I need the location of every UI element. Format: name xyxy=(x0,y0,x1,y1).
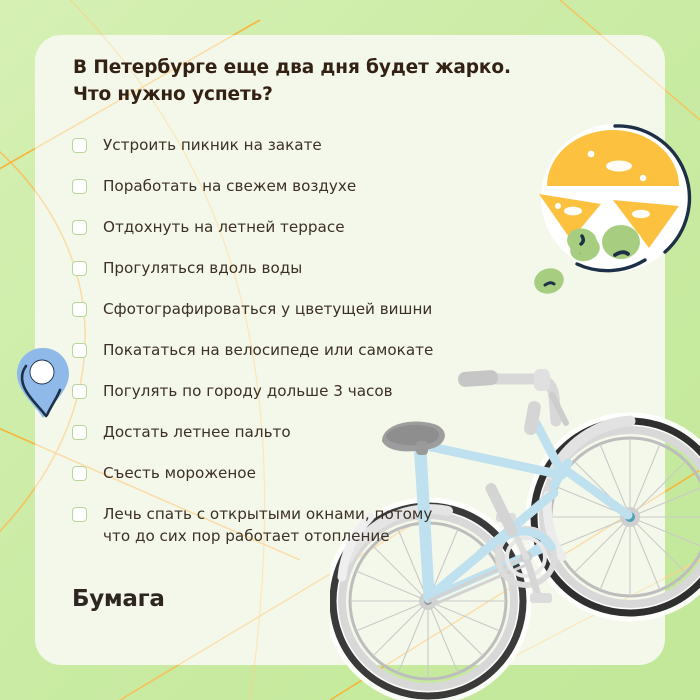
checkbox-icon[interactable] xyxy=(72,179,87,194)
checklist-item-label: Отдохнуть на летней террасе xyxy=(103,217,345,239)
poster-canvas: В Петербурге еще два дня будет жарко. Чт… xyxy=(0,0,700,700)
checkbox-icon[interactable] xyxy=(72,343,87,358)
checkbox-icon[interactable] xyxy=(72,425,87,440)
content-card: В Петербурге еще два дня будет жарко. Чт… xyxy=(35,35,665,665)
checklist-item-label: Устроить пикник на закате xyxy=(103,135,322,157)
checklist-item[interactable]: Лечь спать с открытыми окнами, потому чт… xyxy=(72,504,572,562)
checklist-item-label: Сфотографироваться у цветущей вишни xyxy=(103,299,432,321)
checkbox-icon[interactable] xyxy=(72,302,87,317)
title-line-1: В Петербурге еще два дня будет жарко. xyxy=(73,54,543,81)
title-line-2: Что нужно успеть? xyxy=(73,81,543,108)
checklist-item[interactable]: Отдохнуть на летней террасе xyxy=(72,217,572,258)
checkbox-icon[interactable] xyxy=(72,507,87,522)
checkbox-icon[interactable] xyxy=(72,384,87,399)
checklist-item[interactable]: Съесть мороженое xyxy=(72,463,572,504)
checkbox-icon[interactable] xyxy=(72,138,87,153)
checklist-item[interactable]: Достать летнее пальто xyxy=(72,422,572,463)
checklist-item[interactable]: Сфотографироваться у цветущей вишни xyxy=(72,299,572,340)
checklist-item-label: Прогуляться вдоль воды xyxy=(103,258,302,280)
checklist-item[interactable]: Устроить пикник на закате xyxy=(72,135,572,176)
checklist: Устроить пикник на закатеПоработать на с… xyxy=(72,135,572,562)
page-title: В Петербурге еще два дня будет жарко. Чт… xyxy=(73,54,543,108)
checklist-item-label: Съесть мороженое xyxy=(103,463,256,485)
checklist-item[interactable]: Поработать на свежем воздухе xyxy=(72,176,572,217)
checklist-item-label: Покататься на велосипеде или самокате xyxy=(103,340,433,362)
checklist-item[interactable]: Покататься на велосипеде или самокате xyxy=(72,340,572,381)
brand-logo: Бумага xyxy=(72,586,165,612)
checklist-item-label: Поработать на свежем воздухе xyxy=(103,176,356,198)
checkbox-icon[interactable] xyxy=(72,220,87,235)
checklist-item-label: Погулять по городу дольше 3 часов xyxy=(103,381,393,403)
checklist-item-label: Лечь спать с открытыми окнами, потому чт… xyxy=(103,504,432,547)
checkbox-icon[interactable] xyxy=(72,466,87,481)
checklist-item[interactable]: Прогуляться вдоль воды xyxy=(72,258,572,299)
checklist-item[interactable]: Погулять по городу дольше 3 часов xyxy=(72,381,572,422)
checkbox-icon[interactable] xyxy=(72,261,87,276)
checklist-item-label: Достать летнее пальто xyxy=(103,422,291,444)
